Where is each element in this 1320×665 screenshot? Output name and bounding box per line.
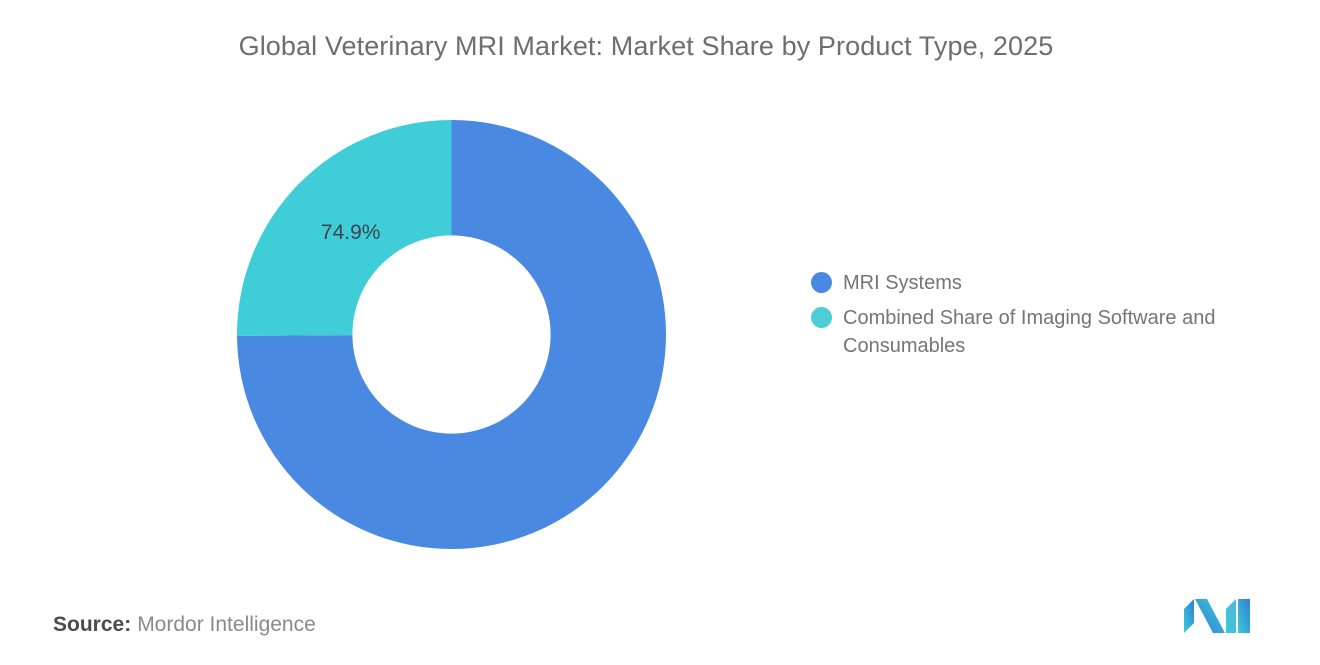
chart-title: Global Veterinary MRI Market: Market Sha… <box>0 30 1320 64</box>
donut-svg <box>237 120 666 549</box>
legend-item-label: MRI Systems <box>843 269 962 297</box>
donut-chart-figure: Global Veterinary MRI Market: Market Sha… <box>0 0 1320 665</box>
legend-item-combined-share[interactable]: Combined Share of Imaging Software and C… <box>811 304 1281 360</box>
legend-color-swatch-icon <box>811 272 832 293</box>
donut-chart: 74.9% <box>237 120 666 549</box>
slice-data-label-mri-systems: 74.9% <box>321 221 381 245</box>
donut-slice-group <box>237 120 666 549</box>
legend-item-label: Combined Share of Imaging Software and C… <box>843 304 1267 360</box>
legend-item-mri-systems[interactable]: MRI Systems <box>811 269 1281 297</box>
mordor-intelligence-logo-icon <box>1182 597 1254 635</box>
source-name-label: Mordor Intelligence <box>137 613 316 636</box>
legend-color-swatch-icon <box>811 307 832 328</box>
logo-svg <box>1182 597 1254 635</box>
chart-legend: MRI Systems Combined Share of Imaging So… <box>811 269 1281 367</box>
source-line: Source:Mordor Intelligence <box>53 610 316 640</box>
source-prefix-label: Source: <box>53 613 131 636</box>
